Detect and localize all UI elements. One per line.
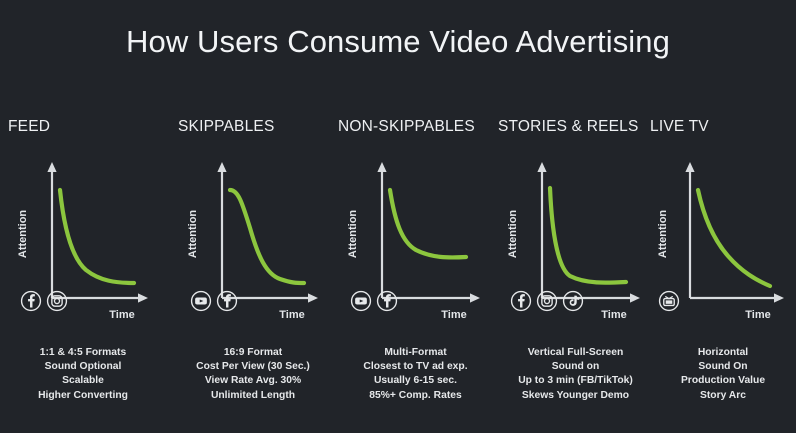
caption-line: View Rate Avg. 30% (178, 374, 328, 388)
youtube-icon[interactable] (350, 290, 372, 312)
y-axis-arrow (217, 162, 226, 172)
caption-line: Production Value (650, 374, 796, 388)
caption-line: Story Arc (650, 389, 796, 403)
platform-icons-stories-reels (510, 290, 584, 312)
panel-header-skippables: SKIPPABLES (178, 118, 274, 136)
x-axis-label: Time (601, 309, 626, 321)
youtube-icon[interactable] (190, 290, 212, 312)
x-axis-label: Time (745, 309, 770, 321)
y-axis-arrow (537, 162, 546, 172)
panel-live-tv: LIVE TV Attention Time (650, 118, 796, 418)
caption-line: 16:9 Format (178, 346, 328, 360)
caption-line: Horizontal (650, 346, 796, 360)
facebook-icon[interactable] (376, 290, 398, 312)
attention-curve (698, 190, 770, 286)
caption-live-tv: Horizontal Sound On Production Value Sto… (650, 346, 796, 403)
x-axis-arrow (630, 293, 640, 302)
caption-line: Sound Optional (8, 360, 158, 374)
facebook-icon[interactable] (216, 290, 238, 312)
platform-icons-feed (20, 290, 68, 312)
attention-curve (390, 190, 466, 257)
x-axis-label: Time (279, 309, 304, 321)
caption-line: Skews Younger Demo (498, 389, 653, 403)
tiktok-icon[interactable] (562, 290, 584, 312)
y-axis-label: Attention (187, 210, 199, 259)
y-axis-label: Attention (657, 210, 669, 259)
instagram-icon[interactable] (536, 290, 558, 312)
attention-curve (550, 188, 626, 283)
y-axis-arrow (685, 162, 694, 172)
x-axis-arrow (138, 293, 148, 302)
caption-line: 85%+ Comp. Rates (338, 389, 493, 403)
panels-container: FEED Attention Time (0, 118, 796, 418)
attention-curve (230, 190, 304, 283)
caption-line: Unlimited Length (178, 389, 328, 403)
page-title: How Users Consume Video Advertising (0, 24, 796, 60)
panel-header-live-tv: LIVE TV (650, 118, 709, 136)
caption-line: Multi-Format (338, 346, 493, 360)
caption-line: Higher Converting (8, 389, 158, 403)
panel-header-feed: FEED (8, 118, 50, 136)
caption-line: Sound On (650, 360, 796, 374)
tv-icon[interactable] (658, 290, 680, 312)
y-axis-arrow (377, 162, 386, 172)
caption-line: Usually 6-15 sec. (338, 374, 493, 388)
platform-icons-skippables (190, 290, 238, 312)
slide-root: How Users Consume Video Advertising FEED… (0, 0, 796, 433)
y-axis-arrow (47, 162, 56, 172)
panel-skippables: SKIPPABLES Attention Time (178, 118, 328, 418)
caption-line: Sound on (498, 360, 653, 374)
platform-icons-live-tv (658, 290, 680, 312)
panel-feed: FEED Attention Time (8, 118, 158, 418)
attention-curve (60, 190, 134, 283)
x-axis-label: Time (441, 309, 466, 321)
x-axis-arrow (774, 293, 784, 302)
caption-line: Cost Per View (30 Sec.) (178, 360, 328, 374)
caption-line: Vertical Full-Screen (498, 346, 653, 360)
instagram-icon[interactable] (46, 290, 68, 312)
facebook-icon[interactable] (510, 290, 532, 312)
panel-header-stories-reels: STORIES & REELS (498, 118, 639, 136)
y-axis-label: Attention (17, 210, 29, 259)
y-axis-label: Attention (347, 210, 359, 259)
caption-feed: 1:1 & 4:5 Formats Sound Optional Scalabl… (8, 346, 158, 403)
x-axis-arrow (470, 293, 480, 302)
x-axis-label: Time (109, 309, 134, 321)
panel-stories-reels: STORIES & REELS Attention Time (498, 118, 653, 418)
caption-line: 1:1 & 4:5 Formats (8, 346, 158, 360)
x-axis-arrow (308, 293, 318, 302)
caption-stories-reels: Vertical Full-Screen Sound on Up to 3 mi… (498, 346, 653, 403)
platform-icons-non-skippables (350, 290, 398, 312)
caption-skippables: 16:9 Format Cost Per View (30 Sec.) View… (178, 346, 328, 403)
panel-header-non-skippables: NON-SKIPPABLES (338, 118, 475, 136)
caption-line: Scalable (8, 374, 158, 388)
facebook-icon[interactable] (20, 290, 42, 312)
caption-line: Up to 3 min (FB/TikTok) (498, 374, 653, 388)
panel-non-skippables: NON-SKIPPABLES Attention Time (338, 118, 493, 418)
y-axis-label: Attention (507, 210, 519, 259)
caption-non-skippables: Multi-Format Closest to TV ad exp. Usual… (338, 346, 493, 403)
caption-line: Closest to TV ad exp. (338, 360, 493, 374)
